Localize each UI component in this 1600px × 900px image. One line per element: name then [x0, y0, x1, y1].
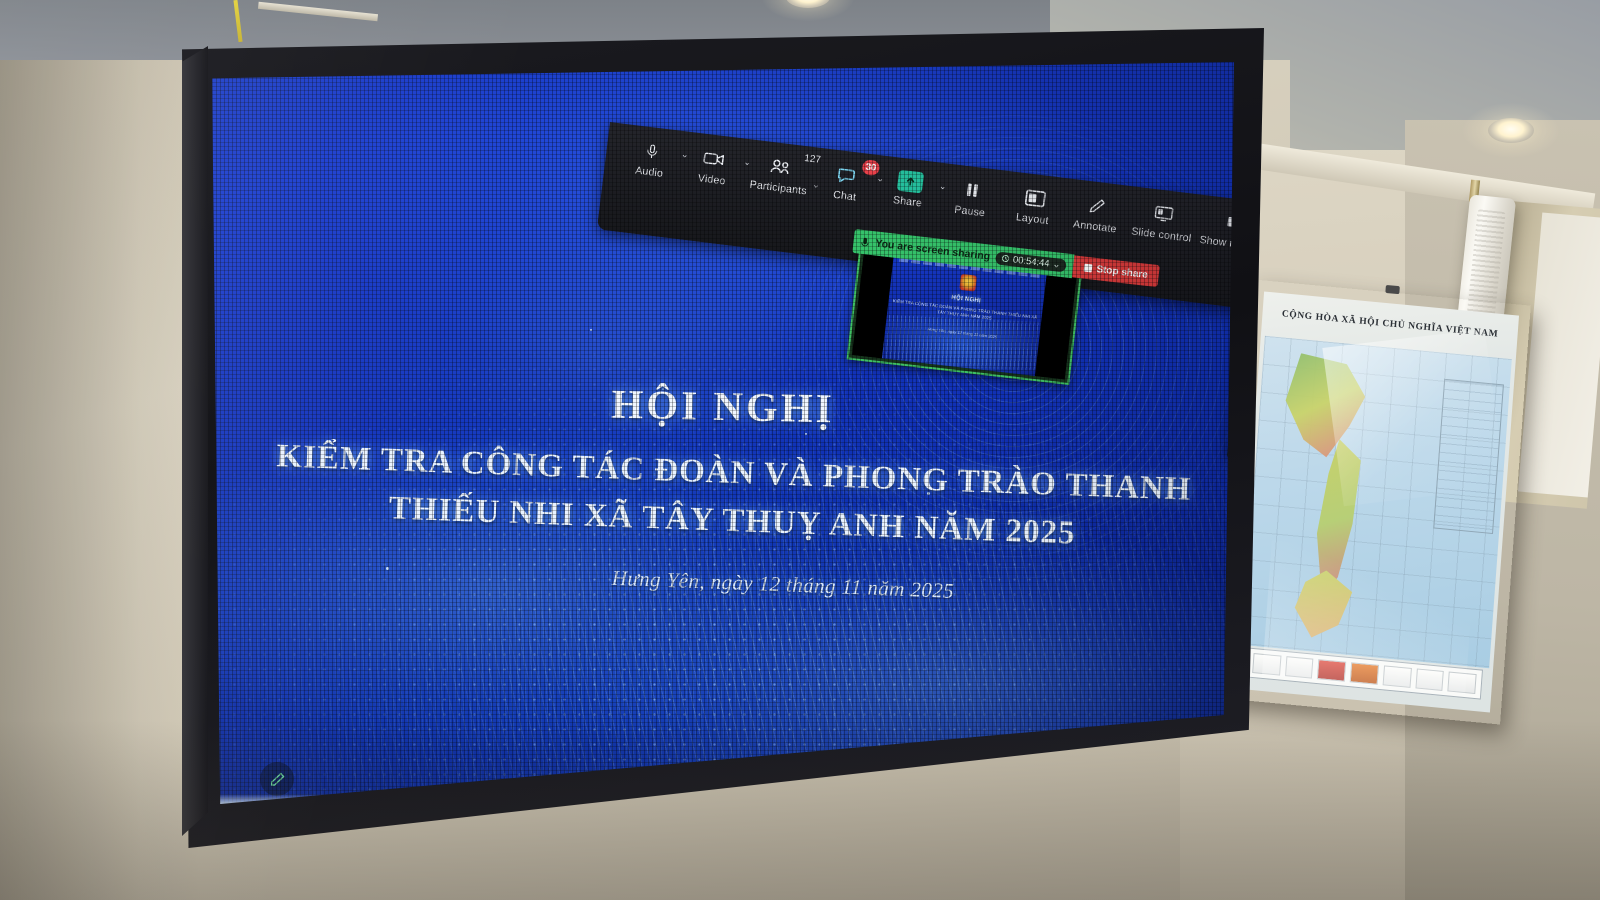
toolbar-label: Slide control	[1131, 225, 1192, 244]
map-paper: CỘNG HÒA XÃ HỘI CHỦ NGHĨA VIỆT NAM	[1235, 291, 1519, 712]
toolbar-label: Video	[697, 172, 726, 187]
legend-cell	[1317, 659, 1346, 682]
toolbar-button-video[interactable]: Video ⌄	[682, 143, 745, 191]
chevron-down-icon[interactable]: ⌄	[1052, 258, 1061, 270]
toolbar-button-annotate[interactable]: Annotate	[1065, 190, 1128, 238]
toolbar-button-slide-control[interactable]: Slide control	[1128, 197, 1199, 246]
toolbar-button-layout[interactable]: Layout	[1003, 182, 1066, 230]
display-screen[interactable]: HỘI NGHỊ KIỂM TRA CÔNG TÁC ĐOÀN VÀ PHONG…	[212, 62, 1234, 804]
layout-icon	[1021, 185, 1050, 211]
toolbar-button-show-meeting[interactable]: Show meeting	[1198, 206, 1234, 255]
share-screen-icon	[896, 170, 923, 194]
legend-cell	[1415, 668, 1444, 691]
map-title: CỘNG HÒA XÃ HỘI CHỦ NGHĨA VIỆT NAM	[1262, 307, 1518, 341]
toolbar-label: Annotate	[1072, 218, 1117, 235]
toolbar-button-share[interactable]: Share ⌄	[878, 167, 940, 213]
toolbar-label: Audio	[635, 164, 664, 179]
camera-icon	[700, 145, 729, 171]
map-inset-panel	[1433, 379, 1504, 534]
stop-square-icon	[1084, 264, 1093, 273]
legend-cell	[1285, 656, 1314, 679]
toolbar-button-chat[interactable]: 30 Chat ⌄	[815, 159, 878, 207]
legend-cell	[1350, 662, 1379, 685]
framed-vietnam-map: CỘNG HÒA XÃ HỘI CHỦ NGHĨA VIỆT NAM	[1223, 279, 1531, 724]
youth-union-emblem-icon	[959, 274, 977, 292]
share-timer[interactable]: 00:54:44 ⌄	[995, 251, 1067, 272]
legend-cell	[1448, 672, 1477, 695]
mute-mic-icon	[860, 236, 870, 248]
toolbar-label: Share	[892, 194, 922, 209]
pause-icon	[958, 177, 987, 203]
participants-icon	[767, 154, 796, 180]
slide-control-icon	[1150, 201, 1179, 227]
share-timer-value: 00:54:44	[1012, 254, 1050, 269]
toolbar-label: Layout	[1015, 211, 1049, 227]
microphone-icon	[637, 138, 666, 164]
meeting-room-scene: CỘNG HÒA XÃ HỘI CHỦ NGHĨA VIỆT NAM	[0, 0, 1600, 900]
chat-icon: 30	[833, 162, 862, 188]
ceiling-downlight	[1488, 118, 1534, 143]
legend-cell	[1382, 665, 1411, 688]
toolbar-label: Show meeting	[1199, 234, 1234, 254]
wall-shadow-bottom	[0, 720, 1600, 900]
ceiling-downlight	[786, 0, 830, 8]
toolbar-button-participants[interactable]: Participants 127 ⌄	[745, 150, 816, 199]
toolbar-label: Chat	[833, 189, 857, 204]
toolbar-label: Participants	[749, 179, 807, 198]
pencil-icon	[1083, 193, 1112, 219]
stop-share-label: Stop share	[1096, 264, 1149, 281]
toolbar-button-pause[interactable]: Pause	[940, 174, 1003, 222]
toolbar-label: Pause	[954, 204, 986, 220]
toolbar-button-audio[interactable]: Audio ⌄	[620, 135, 683, 183]
clock-icon	[1002, 254, 1011, 263]
